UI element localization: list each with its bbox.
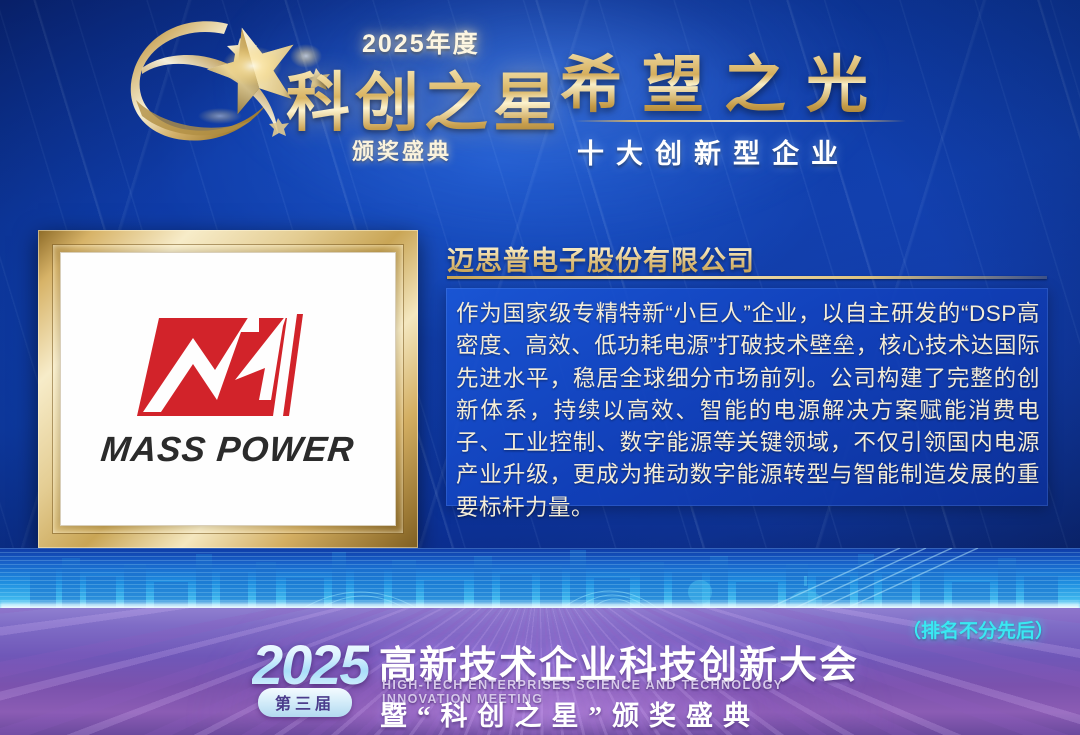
page-title: 希望之光 [560,34,888,124]
footer-conference-subtitle: 暨“科创之星”颁奖盛典 [380,694,760,733]
company-description-panel: 作为国家级专精特新“小巨人”企业，以自主研发的“DSP高密度、高效、低功耗电源”… [446,288,1048,506]
header-ceremony-label: 颁奖盛典 [352,134,452,166]
logo-card-frame: MASS POWER [38,230,418,548]
logo-wordmark: MASS POWER [99,430,356,470]
company-name-divider [447,276,1047,279]
title-divider [574,120,906,122]
mass-power-red-m-mark-icon [137,308,319,426]
logo-card-surface: MASS POWER [60,252,396,526]
company-name: 迈思普电子股份有限公司 [447,239,755,278]
footer-edition-badge: 第三届 [258,688,352,717]
footer-conference-lockup: 2025 第三届 高新技术企业科技创新大会 HIGH-TECH ENTERPRI… [246,630,866,728]
rank-note: （排名不分先后） [902,616,1054,643]
page-subtitle: 十大创新型企业 [577,132,850,171]
company-description-text: 作为国家级专精特新“小巨人”企业，以自主研发的“DSP高密度、高效、低功耗电源”… [456,298,1040,524]
header-award-name: 科创之星 [286,52,562,144]
award-slide: 2025年度 科创之星 颁奖盛典 希望之光 十大创新型企业 MASS POWER… [0,0,1080,735]
